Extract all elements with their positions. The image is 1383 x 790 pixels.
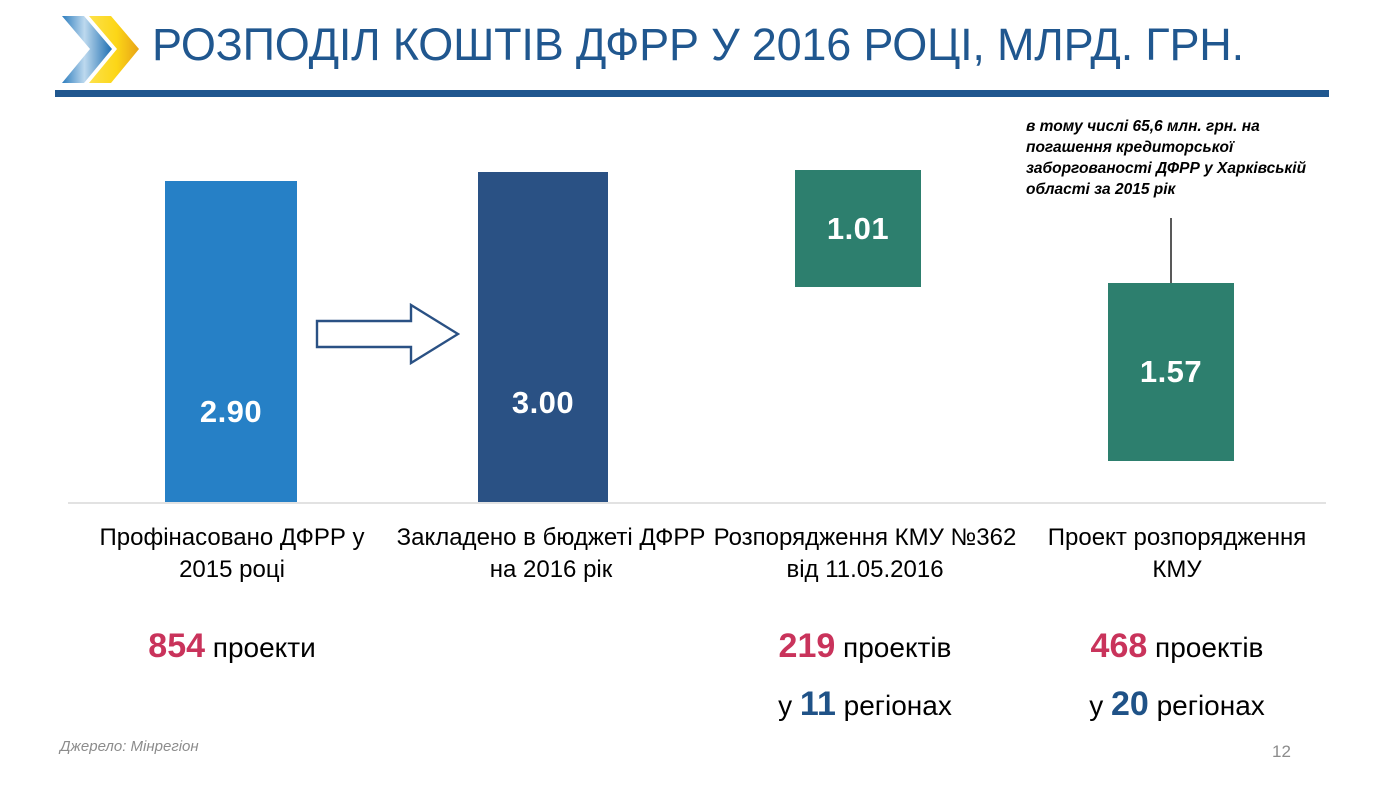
page-title: РОЗПОДІЛ КОШТІВ ДФРР У 2016 РОЦІ, МЛРД. … [152, 16, 1332, 74]
chart-baseline-axis [68, 502, 1326, 504]
stat-regions-count: 11 [800, 685, 836, 723]
slide: РОЗПОДІЛ КОШТІВ ДФРР У 2016 РОЦІ, МЛРД. … [0, 0, 1383, 790]
bar-value-label: 2.90 [200, 394, 262, 430]
bar-proekt-rozporyadzhennya-kmu[interactable]: 1.57 [1108, 283, 1234, 461]
stat-projects-count: 854 [148, 627, 205, 665]
category-label-proekt-rozporyadzhennya-kmu: Проект розпорядження КМУ [1020, 522, 1334, 586]
bar-value-label: 1.57 [1140, 354, 1202, 390]
page-number: 12 [1272, 742, 1291, 762]
stat-projects-line: 468 проектів [1020, 618, 1334, 676]
stat-regions-prefix: у [1089, 690, 1111, 721]
stat-projects-line: 219 проектів [708, 618, 1022, 676]
bar-rozporyadzhennya-kmu-362[interactable]: 1.01 [795, 170, 921, 287]
stat-projects-unit: проекти [205, 632, 316, 663]
stat-block-proekt-rozporyadzhennya: 468 проектів у 20 регіонах [1020, 618, 1334, 734]
category-label-rozporyadzhennya-kmu-362: Розпорядження КМУ №362 від 11.05.2016 [708, 522, 1022, 586]
double-chevron-logo [58, 10, 142, 90]
category-label-zakladeno-budzhet-2016: Закладено в бюджеті ДФРР на 2016 рік [394, 522, 708, 586]
stat-regions-line: у 20 регіонах [1020, 676, 1334, 734]
category-label-profinansovano-2015: Профінасовано ДФРР у 2015 році [70, 522, 394, 586]
stat-block-rozporyadzhennya-362: 219 проектів у 11 регіонах [708, 618, 1022, 734]
stat-block-profinansovano: 854 проекти [70, 618, 394, 676]
bar-value-label: 1.01 [827, 211, 889, 247]
callout-note: в тому числі 65,6 млн. грн. на погашення… [1026, 116, 1311, 200]
statistics-row: 854 проекти 219 проектів у 11 регіонах 4… [0, 618, 1383, 730]
stat-projects-count: 219 [779, 627, 836, 665]
source-note: Джерело: Мінрегіон [60, 738, 199, 755]
header-divider [55, 90, 1329, 97]
stat-projects-line: 854 проекти [70, 618, 394, 676]
stat-projects-unit: проектів [835, 632, 951, 663]
category-label-row: Профінасовано ДФРР у 2015 році Закладено… [0, 522, 1383, 592]
stat-regions-prefix: у [778, 690, 800, 721]
stat-regions-count: 20 [1111, 685, 1149, 723]
bar-profinansovano-2015[interactable]: 2.90 [165, 181, 297, 502]
stat-regions-line: у 11 регіонах [708, 676, 1022, 734]
transition-arrow-icon [315, 303, 460, 365]
bar-zakladeno-budzhet-2016[interactable]: 3.00 [478, 172, 608, 502]
stat-regions-unit: регіонах [1149, 690, 1265, 721]
stat-regions-unit: регіонах [836, 690, 952, 721]
bar-value-label: 3.00 [512, 385, 574, 421]
callout-leader-line [1170, 218, 1172, 284]
stat-projects-count: 468 [1091, 627, 1148, 665]
stat-projects-unit: проектів [1147, 632, 1263, 663]
